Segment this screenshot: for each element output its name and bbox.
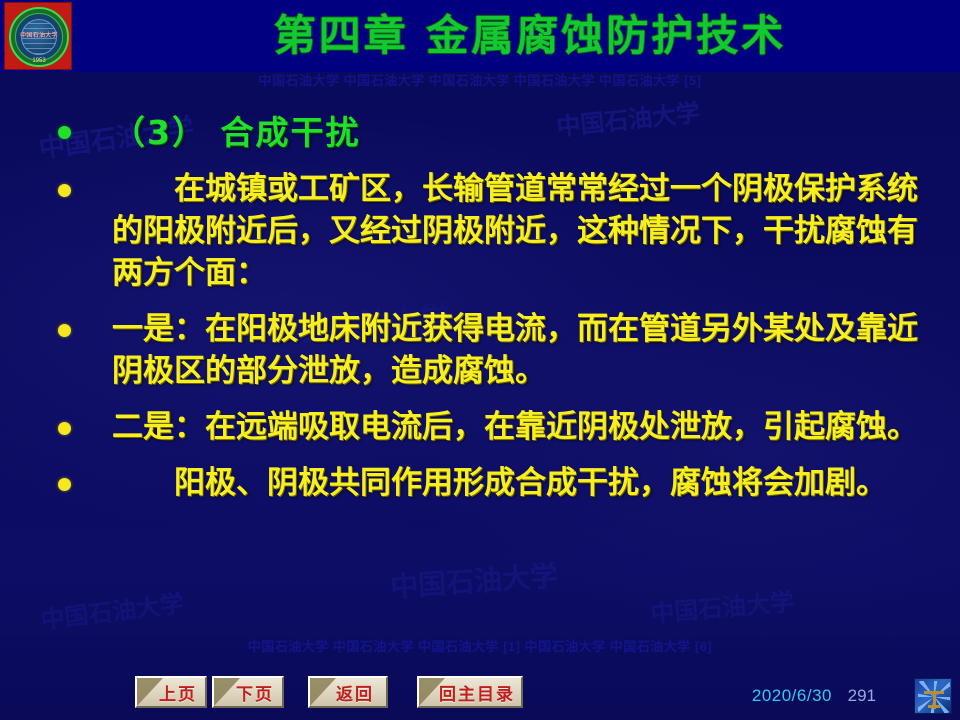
page-title: 第四章 金属腐蚀防护技术 [150, 8, 910, 64]
main-menu-label: 回主目录 [419, 678, 521, 706]
bullet-marker-icon [58, 184, 71, 197]
bullet-item: 一是：在阳极地床附近获得电流，而在管道另外某处及靠近阴极区的部分泄放，造成腐蚀。 [0, 308, 960, 392]
bullet-text: 在城镇或工矿区，长输管道常常经过一个阴极保护系统的阳极附近后，又经过阴极附近，这… [52, 168, 932, 294]
bullet-marker-icon [58, 126, 71, 139]
bullet-item: 在城镇或工矿区，长输管道常常经过一个阴极保护系统的阳极附近后，又经过阴极附近，这… [0, 168, 960, 294]
footer-page-number: 291 [848, 686, 876, 706]
bullet-text: 一是：在阳极地床附近获得电流，而在管道另外某处及靠近阴极区的部分泄放，造成腐蚀。 [52, 308, 932, 392]
slide-footer: 上页 下页 返回 回主目录 2020/6/30 291 [0, 668, 960, 720]
decorative-lamp-icon [914, 678, 952, 714]
bullet-item: 阳极、阴极共同作用形成合成干扰，腐蚀将会加剧。 [0, 462, 960, 504]
next-page-button[interactable]: 下页 [212, 676, 284, 708]
return-button[interactable]: 返回 [308, 676, 388, 708]
return-label: 返回 [310, 678, 386, 706]
bullet-marker-icon [58, 422, 71, 435]
bullet-item: 二是：在远端吸取电流后，在靠近阴极处泄放，引起腐蚀。 [0, 406, 960, 448]
previous-page-label: 上页 [137, 678, 205, 706]
bullet-marker-icon [58, 324, 71, 337]
bullet-item: （3） 合成干扰 [0, 112, 960, 154]
slide-canvas: 中国石油大学 中国石油大学 中国石油大学 中国石油大学 中国石油大学 [5] 中… [0, 0, 960, 720]
watermark-bottom: 中国石油大学 中国石油大学 中国石油大学 [1] 中国石油大学 中国石油大学 [… [0, 636, 960, 655]
bullet-text: （3） 合成干扰 [52, 112, 932, 154]
footer-date: 2020/6/30 [752, 686, 832, 706]
bullet-text: 二是：在远端吸取电流后，在靠近阴极处泄放，引起腐蚀。 [52, 406, 932, 448]
next-page-label: 下页 [214, 678, 282, 706]
logo-year: 1953 [5, 58, 73, 64]
main-menu-button[interactable]: 回主目录 [417, 676, 523, 708]
previous-page-button[interactable]: 上页 [135, 676, 207, 708]
bullet-text: 阳极、阴极共同作用形成合成干扰，腐蚀将会加剧。 [52, 462, 932, 504]
logo-org-name: 中国石油大学 [19, 30, 59, 39]
lamp-shape [924, 691, 944, 709]
slide-title-bar: 中国石油大学 1953 第四章 金属腐蚀防护技术 [0, 0, 960, 72]
watermark-top: 中国石油大学 中国石油大学 中国石油大学 中国石油大学 中国石油大学 [5] [0, 70, 960, 89]
university-logo: 中国石油大学 1953 [4, 2, 72, 70]
bullet-marker-icon [58, 478, 71, 491]
slide-body: （3） 合成干扰 在城镇或工矿区，长输管道常常经过一个阴极保护系统的阳极附近后，… [0, 96, 960, 616]
